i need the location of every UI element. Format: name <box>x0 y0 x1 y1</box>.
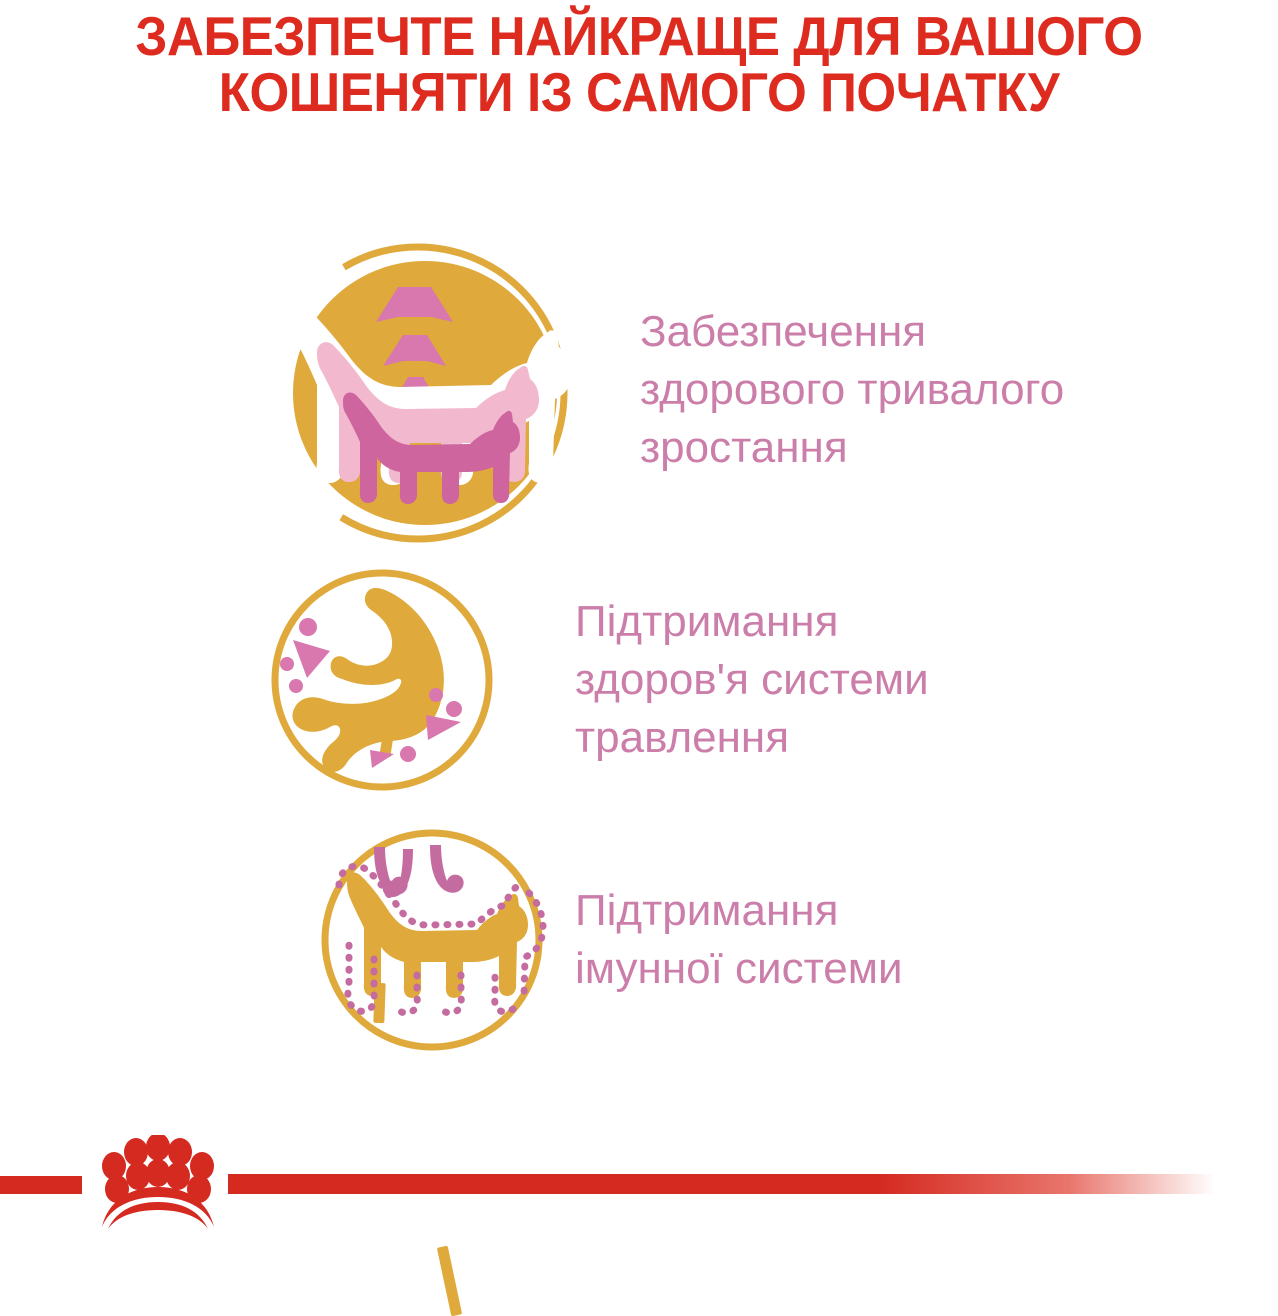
benefit-item-digestion: Підтримання здоров'я системи травлення <box>255 565 1195 795</box>
connector-dash-bottom <box>437 1246 462 1316</box>
immune-shield-cat-icon <box>317 825 547 1055</box>
benefit-item-immunity: Підтримання імунної системи <box>255 825 1195 1055</box>
benefit-label-immunity: Підтримання імунної системи <box>575 882 1195 998</box>
royal-canin-crown-logo <box>88 1135 228 1230</box>
footer-bar-right <box>228 1174 1278 1194</box>
benefits-list: Забезпечення здорового тривалого зростан… <box>0 180 1278 1110</box>
benefit-item-growth: Забезпечення здорового тривалого зростан… <box>255 225 1260 555</box>
benefit-label-digestion: Підтримання здоров'я системи травлення <box>575 593 1195 767</box>
footer-bar-left <box>0 1176 82 1194</box>
page-title: ЗАБЕЗПЕЧТЕ НАЙКРАЩЕ ДЛЯ ВАШОГО КОШЕНЯТИ … <box>45 8 1234 120</box>
footer-brand-bar <box>0 1135 1278 1230</box>
growing-kittens-icon <box>255 225 585 555</box>
benefit-label-growth: Забезпечення здорового тривалого зростан… <box>640 303 1260 477</box>
stomach-digestion-icon <box>267 565 497 795</box>
